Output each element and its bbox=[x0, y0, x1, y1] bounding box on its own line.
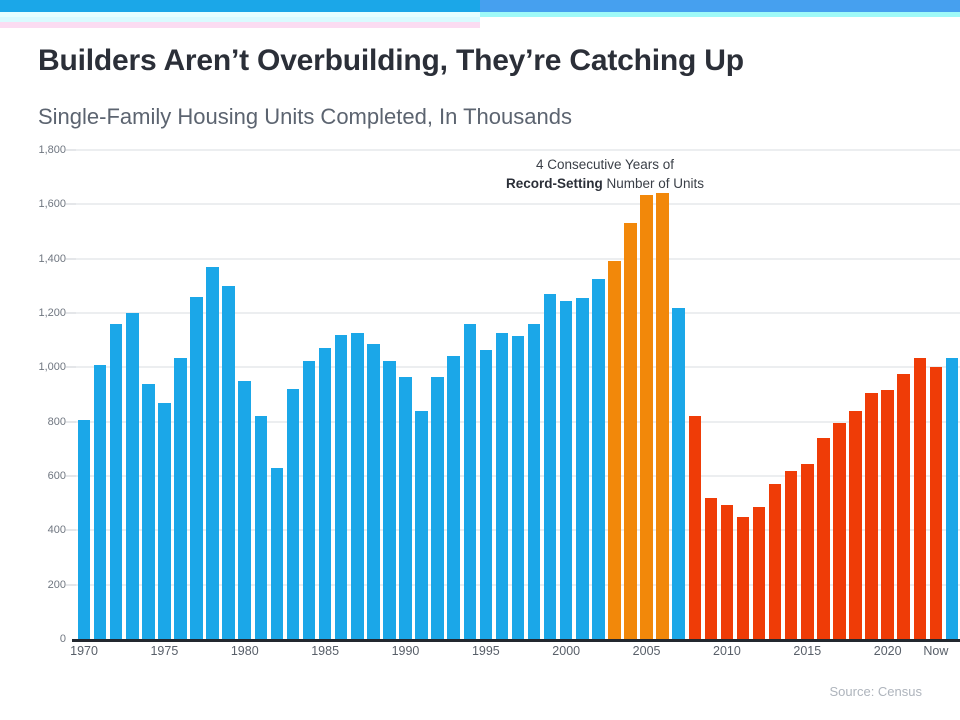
y-axis-tick-mark bbox=[66, 421, 76, 422]
bar bbox=[174, 358, 187, 639]
bar bbox=[705, 498, 718, 639]
y-axis-tick-mark bbox=[66, 258, 76, 259]
bar bbox=[897, 374, 910, 639]
top-banner bbox=[0, 0, 960, 30]
y-axis-tick-label: 600 bbox=[48, 470, 66, 482]
bar bbox=[431, 377, 444, 639]
bar bbox=[865, 393, 878, 639]
chart-page: Builders Aren’t Overbuilding, They’re Ca… bbox=[0, 0, 960, 720]
bar bbox=[801, 464, 814, 639]
y-axis-tick-mark bbox=[66, 530, 76, 531]
y-axis-labels: 02004006008001,0001,2001,4001,6001,800 bbox=[0, 150, 72, 640]
bar bbox=[335, 335, 348, 639]
x-axis-tick-label: 1995 bbox=[472, 644, 500, 658]
bar bbox=[656, 191, 669, 639]
banner-strip-right bbox=[480, 0, 960, 12]
bar bbox=[881, 390, 894, 639]
bar bbox=[447, 356, 460, 639]
x-axis-labels: 1970197519801985199019952000200520102015… bbox=[76, 644, 960, 668]
bar bbox=[367, 344, 380, 639]
banner-accent-2 bbox=[480, 12, 960, 17]
bar bbox=[544, 294, 557, 639]
bar bbox=[560, 301, 573, 639]
y-axis-tick-label: 1,600 bbox=[38, 198, 66, 210]
bar bbox=[464, 324, 477, 639]
bar bbox=[737, 517, 750, 639]
bar bbox=[319, 348, 332, 639]
x-axis-tick-label: 1980 bbox=[231, 644, 259, 658]
bar bbox=[383, 361, 396, 639]
bar bbox=[255, 416, 268, 639]
page-title: Builders Aren’t Overbuilding, They’re Ca… bbox=[38, 44, 744, 78]
x-axis-tick-label: 2005 bbox=[633, 644, 661, 658]
bar bbox=[914, 358, 927, 639]
bar bbox=[399, 377, 412, 639]
x-axis-tick-label: 1975 bbox=[150, 644, 178, 658]
bar bbox=[238, 381, 251, 639]
bar bbox=[576, 298, 589, 639]
bar bbox=[930, 367, 943, 639]
bar bbox=[110, 324, 123, 639]
y-axis-tick-mark bbox=[66, 584, 76, 585]
bar bbox=[480, 350, 493, 639]
x-axis-tick-label: 1990 bbox=[392, 644, 420, 658]
x-axis-tick-label: 2015 bbox=[793, 644, 821, 658]
annotation-bold-text: Record-Setting bbox=[506, 176, 603, 191]
y-axis-tick-label: 1,400 bbox=[38, 253, 66, 265]
bar bbox=[785, 471, 798, 639]
page-subtitle: Single-Family Housing Units Completed, I… bbox=[38, 104, 572, 130]
x-axis-tick-label: Now bbox=[923, 644, 948, 658]
y-axis-tick-label: 200 bbox=[48, 579, 66, 591]
bar bbox=[351, 333, 364, 639]
y-axis-tick-mark bbox=[66, 367, 76, 368]
bar bbox=[415, 411, 428, 639]
bar bbox=[721, 505, 734, 639]
bar bbox=[817, 438, 830, 639]
x-axis-tick-label: 2000 bbox=[552, 644, 580, 658]
bar bbox=[190, 297, 203, 639]
y-axis-tick-mark bbox=[66, 476, 76, 477]
chart-annotation: 4 Consecutive Years of Record-Setting Nu… bbox=[470, 155, 740, 193]
bar bbox=[849, 411, 862, 639]
y-axis-tick-label: 1,800 bbox=[38, 144, 66, 156]
y-axis-tick-mark bbox=[66, 150, 76, 151]
bar bbox=[78, 420, 91, 639]
x-axis-tick-label: 1985 bbox=[311, 644, 339, 658]
bar-chart: 02004006008001,0001,2001,4001,6001,800 1… bbox=[0, 150, 960, 670]
bar bbox=[833, 423, 846, 639]
x-axis-tick-label: 1970 bbox=[70, 644, 98, 658]
bar bbox=[303, 361, 316, 639]
bar bbox=[689, 416, 702, 639]
y-axis-tick-label: 800 bbox=[48, 416, 66, 428]
bar bbox=[640, 195, 653, 639]
bar bbox=[528, 324, 541, 639]
plot-area bbox=[76, 150, 960, 640]
bar bbox=[496, 333, 509, 639]
y-axis-tick-label: 0 bbox=[60, 633, 66, 645]
bar bbox=[158, 403, 171, 639]
banner-accent-4 bbox=[0, 22, 480, 28]
bar bbox=[126, 313, 139, 639]
bar bbox=[624, 223, 637, 639]
y-axis-tick-label: 1,200 bbox=[38, 307, 66, 319]
x-axis-tick-label: 2010 bbox=[713, 644, 741, 658]
bar bbox=[206, 267, 219, 639]
bar bbox=[512, 336, 525, 639]
bar bbox=[769, 484, 782, 639]
y-axis-tick-label: 400 bbox=[48, 524, 66, 536]
bar bbox=[672, 308, 685, 639]
x-axis-tick-label: 2020 bbox=[874, 644, 902, 658]
annotation-line-1: 4 Consecutive Years of bbox=[532, 155, 678, 174]
banner-strip-left bbox=[0, 0, 480, 12]
bar bbox=[287, 389, 300, 639]
bar bbox=[592, 279, 605, 639]
bar-series bbox=[76, 150, 960, 639]
bar bbox=[142, 384, 155, 639]
bar bbox=[753, 507, 766, 639]
y-axis-tick-mark bbox=[66, 313, 76, 314]
annotation-line-2: Number of Units bbox=[603, 176, 704, 191]
x-axis-line bbox=[72, 639, 960, 642]
bar bbox=[94, 365, 107, 639]
bar bbox=[946, 358, 959, 639]
y-axis-tick-label: 1,000 bbox=[38, 361, 66, 373]
bar bbox=[271, 468, 284, 639]
source-label: Source: Census bbox=[830, 684, 923, 699]
bar bbox=[608, 261, 621, 639]
bar bbox=[222, 286, 235, 639]
y-axis-tick-mark bbox=[66, 204, 76, 205]
